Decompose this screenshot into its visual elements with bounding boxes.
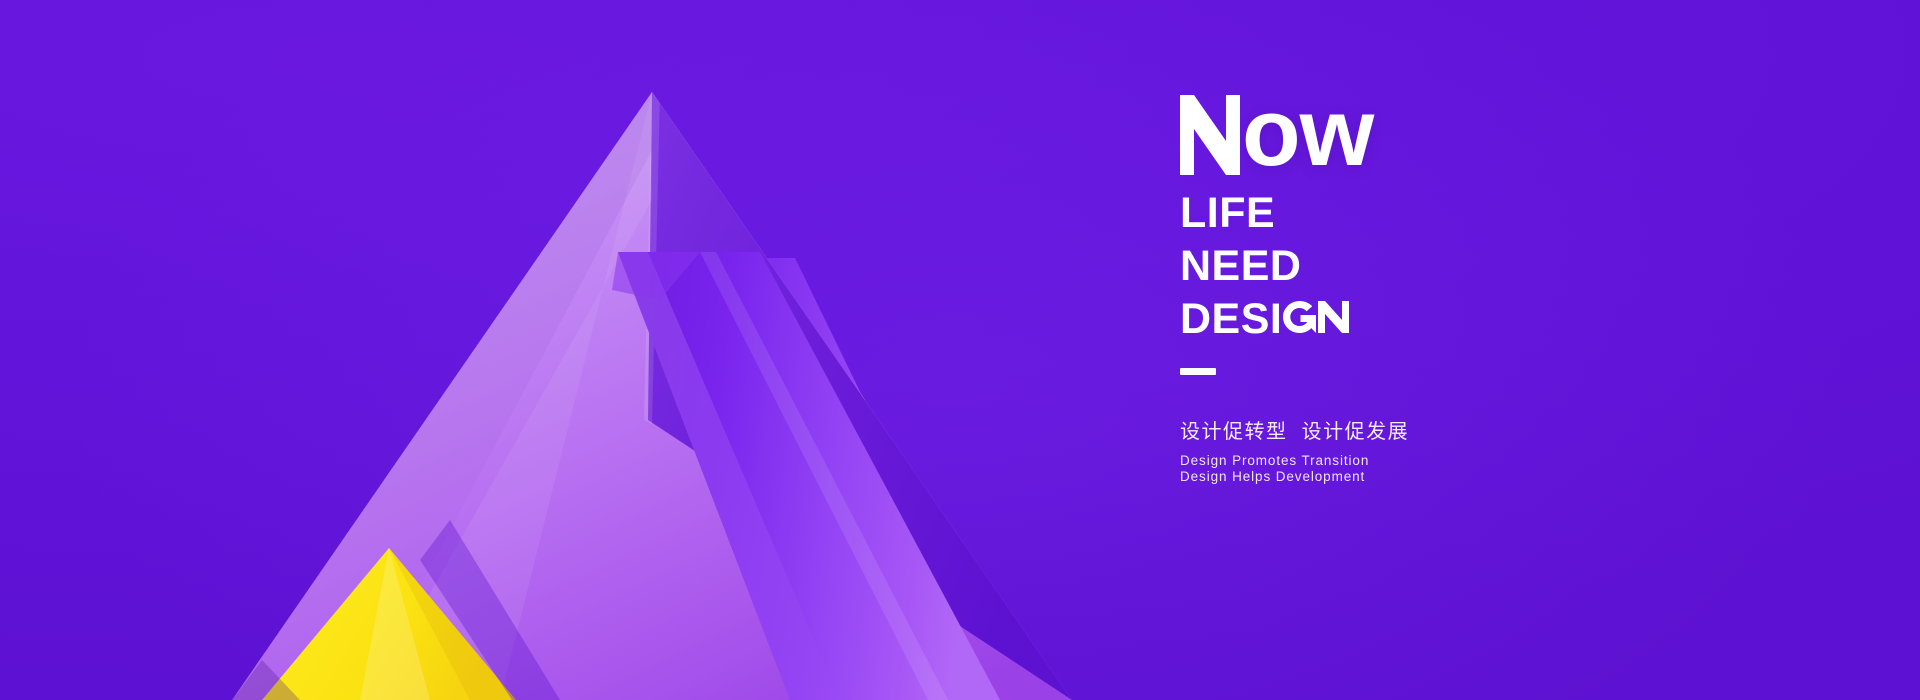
tagline-design-g-glyph [1283, 298, 1316, 330]
subtitle-english: Design Promotes Transition Design Helps … [1180, 453, 1600, 485]
headline-now-rest: ow [1242, 79, 1373, 186]
divider-rule [1180, 368, 1216, 375]
hero-banner: ow LIFE NEED DESI 设计促转型 设计促发展 Design Pro… [0, 0, 1920, 700]
subtitle-english-line1: Design Promotes Transition [1180, 453, 1600, 469]
headline-now: ow [1180, 88, 1600, 178]
subtitle-english-line2: Design Helps Development [1180, 469, 1600, 485]
tagline-line-life: LIFE [1180, 192, 1600, 236]
tagline-line-need: NEED [1180, 245, 1600, 289]
headline-n-glyph [1180, 95, 1240, 175]
tagline-design-n-glyph [1318, 298, 1349, 330]
artwork-geometric-composition [0, 0, 1100, 700]
copy-block: ow LIFE NEED DESI 设计促转型 设计促发展 Design Pro… [1180, 88, 1600, 485]
subtitle-chinese: 设计促转型 设计促发展 [1180, 415, 1600, 444]
tagline-line-design: DESI [1180, 298, 1600, 342]
tagline-design-desi: DESI [1180, 298, 1282, 342]
